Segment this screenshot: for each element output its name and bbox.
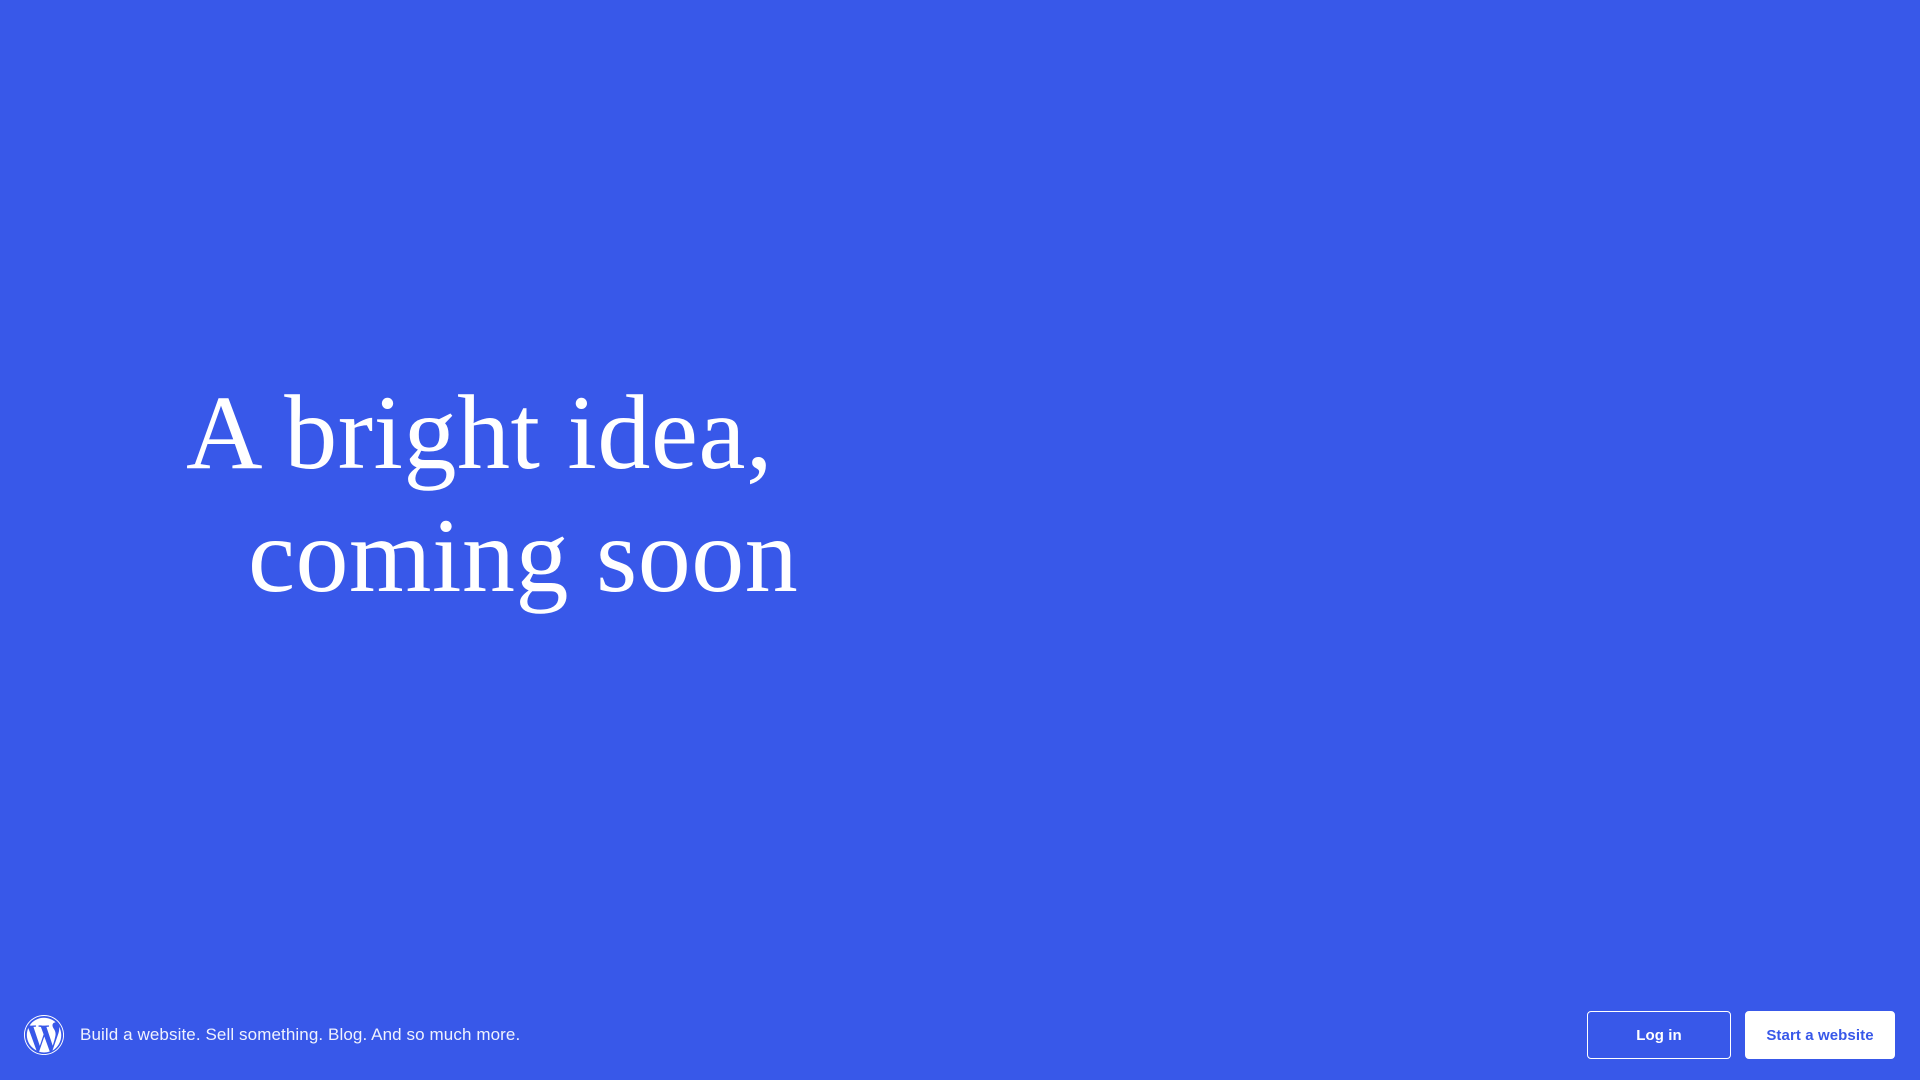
footer-branding: Build a website. Sell something. Blog. A… [24, 1015, 520, 1055]
login-button[interactable]: Log in [1587, 1011, 1731, 1059]
start-a-website-button[interactable]: Start a website [1745, 1011, 1895, 1059]
footer-actions: Log in Start a website [1587, 1011, 1895, 1059]
headline-line-1: A bright idea, [186, 374, 773, 491]
footer-bar: Build a website. Sell something. Blog. A… [0, 990, 1920, 1080]
footer-tagline: Build a website. Sell something. Blog. A… [80, 1025, 520, 1045]
coming-soon-page: A bright idea, coming soon Build a websi… [0, 0, 1920, 1080]
wordpress-logo-icon[interactable] [24, 1015, 64, 1055]
page-title: A bright idea, coming soon [186, 372, 798, 618]
headline-line-2: coming soon [186, 495, 798, 618]
hero-content: A bright idea, coming soon [0, 372, 798, 618]
hero-section: A bright idea, coming soon [0, 0, 1920, 990]
